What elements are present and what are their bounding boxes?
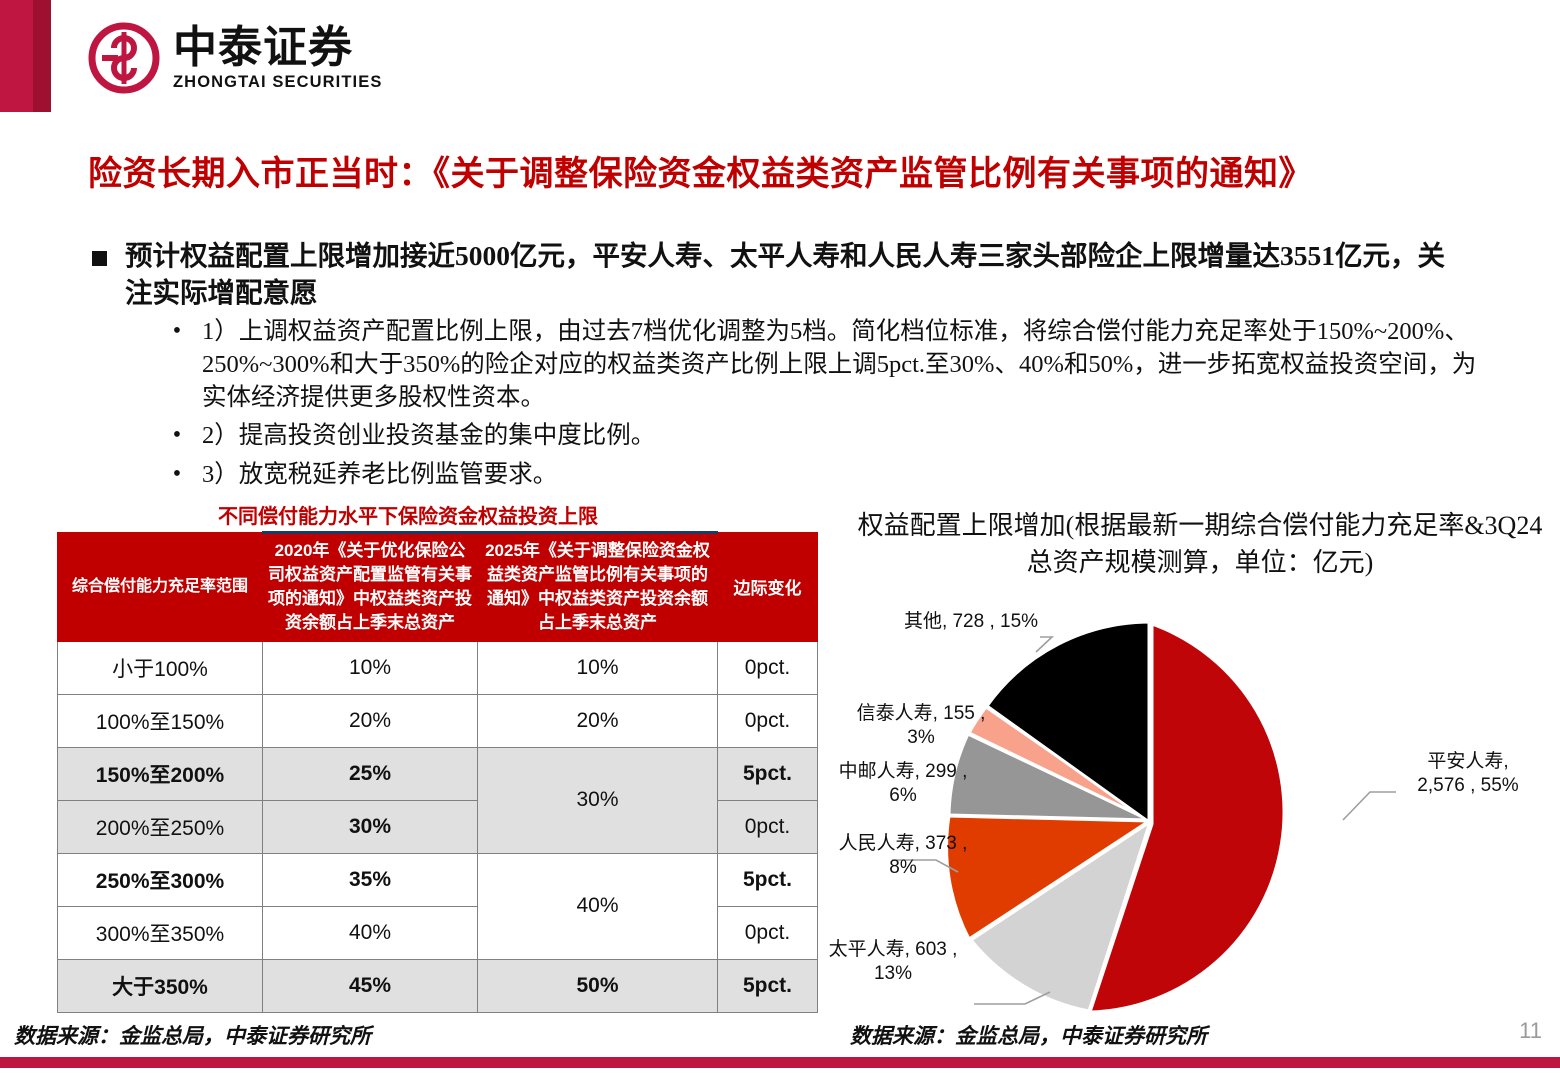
brand-logo: 中泰证券 ZHONGTAI SECURITIES <box>88 22 382 94</box>
bullet-level2-text-3: 3）放宽税延养老比例监管要求。 <box>202 459 557 492</box>
cell-2025: 50% <box>478 959 718 1012</box>
cell-2020: 20% <box>263 694 478 747</box>
dot-bullet-icon: • <box>168 316 186 414</box>
table-row: 100%至150% 20% 20% 0pct. <box>58 694 818 747</box>
pie-chart: 其他, 728 , 15% 信泰人寿, 155 , 3% 中邮人寿, 299 ,… <box>840 610 1560 1030</box>
table-header-2025: 2025年《关于调整保险资金权益类资产监管比例有关事项的通知》中权益类资产投资余… <box>478 533 718 642</box>
bullet-level2-list: • 1）上调权益资产配置比例上限，由过去7档优化调整为5档。简化档位标准，将综合… <box>168 316 1478 498</box>
pie-label-other-line1: 其他, 728 , 15% <box>904 611 1038 632</box>
pie-label-zhongyou-line2: 6% <box>812 784 994 808</box>
table-row: 250%至300% 35% 40% 5pct. <box>58 853 818 906</box>
pie-slices <box>947 622 1284 1012</box>
cell-range: 200%至250% <box>58 800 263 853</box>
cell-2020: 40% <box>263 906 478 959</box>
pie-label-zhongyou: 中邮人寿, 299 , 6% <box>812 760 994 809</box>
table-header-row: 综合偿付能力充足率范围 2020年《关于优化保险公司权益资产配置监管有关事项的通… <box>58 533 818 642</box>
cell-2025: 10% <box>478 641 718 694</box>
bullet-level2-text-2: 2）提高投资创业投资基金的集中度比例。 <box>202 420 655 453</box>
cell-2025-merged: 40% <box>478 853 718 959</box>
cell-range: 大于350% <box>58 959 263 1012</box>
zhongtai-logo-icon <box>88 22 160 94</box>
list-item: • 3）放宽税延养老比例监管要求。 <box>168 459 1478 492</box>
table-row: 150%至200% 25% 30% 5pct. <box>58 747 818 800</box>
pie-label-taiping-line2: 13% <box>802 962 984 986</box>
cell-range: 300%至350% <box>58 906 263 959</box>
cell-2020: 30% <box>263 800 478 853</box>
cell-range: 150%至200% <box>58 747 263 800</box>
pie-label-zhongyou-line1: 中邮人寿, 299 , <box>812 760 994 784</box>
source-note-right: 数据来源：金监总局，中泰证券研究所 <box>850 1020 1207 1050</box>
cell-2020: 10% <box>263 641 478 694</box>
table-header-delta: 边际变化 <box>718 533 818 642</box>
pie-label-renmin-line2: 8% <box>812 856 994 880</box>
table-row: 小于100% 10% 10% 0pct. <box>58 641 818 694</box>
brand-name-en: ZHONGTAI SECURITIES <box>173 74 382 91</box>
accent-bar-crimson <box>0 0 33 112</box>
pie-label-xintai-line2: 3% <box>830 726 1012 750</box>
table-header-range: 综合偿付能力充足率范围 <box>58 533 263 642</box>
source-note-left: 数据来源：金监总局，中泰证券研究所 <box>14 1020 371 1050</box>
pie-label-other: 其他, 728 , 15% <box>876 610 1066 634</box>
brand-name-cn: 中泰证券 <box>173 26 382 70</box>
cell-2025: 20% <box>478 694 718 747</box>
dot-bullet-icon: • <box>168 420 186 453</box>
cell-delta: 0pct. <box>718 694 818 747</box>
list-item: • 2）提高投资创业投资基金的集中度比例。 <box>168 420 1478 453</box>
table-header-2020: 2020年《关于优化保险公司权益资产配置监管有关事项的通知》中权益类资产投资余额… <box>263 533 478 642</box>
cell-2020: 25% <box>263 747 478 800</box>
pie-label-pingan: 平安人寿, 2,576 , 55% <box>1388 750 1548 799</box>
cell-2025-merged: 30% <box>478 747 718 853</box>
cell-delta: 0pct. <box>718 641 818 694</box>
dot-bullet-icon: • <box>168 459 186 492</box>
page-number: 11 <box>1519 1018 1542 1044</box>
cell-2020: 45% <box>263 959 478 1012</box>
accent-bar-maroon <box>33 0 51 112</box>
pie-label-taiping-line1: 太平人寿, 603 , <box>802 938 984 962</box>
pie-label-xintai: 信泰人寿, 155 , 3% <box>830 702 1012 751</box>
pie-label-pingan-line2: 2,576 , 55% <box>1388 774 1548 798</box>
square-bullet-icon <box>92 251 107 266</box>
bullet-level2-text-1: 1）上调权益资产配置比例上限，由过去7档优化调整为5档。简化档位标准，将综合偿付… <box>202 316 1478 414</box>
bottom-accent-bar <box>0 1057 1560 1068</box>
pie-label-renmin: 人民人寿, 373 , 8% <box>812 832 994 881</box>
cell-delta: 5pct. <box>718 747 818 800</box>
pie-label-taiping: 太平人寿, 603 , 13% <box>802 938 984 987</box>
cell-range: 小于100% <box>58 641 263 694</box>
solvency-equity-cap-table: 综合偿付能力充足率范围 2020年《关于优化保险公司权益资产配置监管有关事项的通… <box>57 531 818 1013</box>
table-row: 大于350% 45% 50% 5pct. <box>58 959 818 1012</box>
pie-label-renmin-line1: 人民人寿, 373 , <box>812 832 994 856</box>
page-title: 险资长期入市正当时：《关于调整保险资金权益类资产监管比例有关事项的通知》 <box>88 146 1488 195</box>
pie-label-xintai-line1: 信泰人寿, 155 , <box>830 702 1012 726</box>
bullet-level1-text: 预计权益配置上限增加接近5000亿元，平安人寿、太平人寿和人民人寿三家头部险企上… <box>125 238 1472 312</box>
table-caption: 不同偿付能力水平下保险资金权益投资上限 <box>58 500 758 529</box>
cell-delta: 0pct. <box>718 800 818 853</box>
cell-range: 100%至150% <box>58 694 263 747</box>
pie-label-pingan-line1: 平安人寿, <box>1388 750 1548 774</box>
cell-range: 250%至300% <box>58 853 263 906</box>
list-item: • 1）上调权益资产配置比例上限，由过去7档优化调整为5档。简化档位标准，将综合… <box>168 316 1478 414</box>
bullet-level1: 预计权益配置上限增加接近5000亿元，平安人寿、太平人寿和人民人寿三家头部险企上… <box>92 238 1472 312</box>
cell-delta: 5pct. <box>718 853 818 906</box>
chart-title: 权益配置上限增加(根据最新一期综合偿付能力充足率&3Q24总资产规模测算，单位：… <box>855 508 1545 582</box>
top-left-accent-bars <box>0 0 62 112</box>
cell-2020: 35% <box>263 853 478 906</box>
